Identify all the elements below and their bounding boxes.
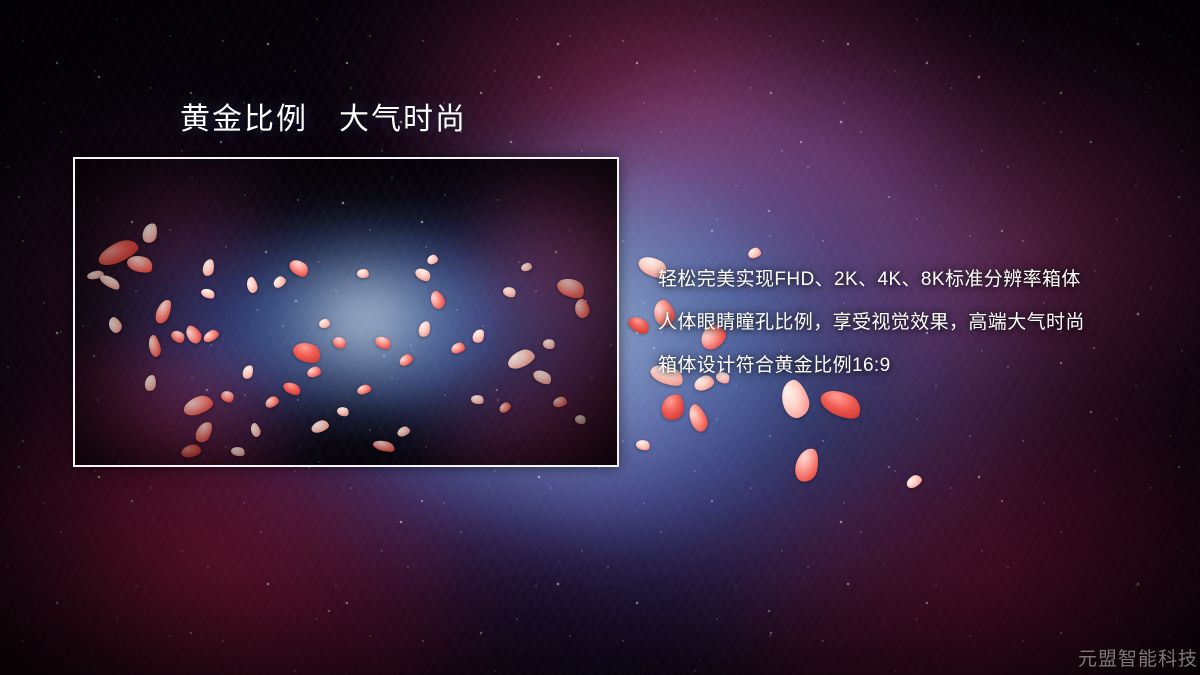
slide-canvas: 黄金比例 大气时尚 轻松完美实现FHD、2K、4K、8K标准分辨率箱体 人体眼睛… bbox=[0, 0, 1200, 675]
feature-description: 轻松完美实现FHD、2K、4K、8K标准分辨率箱体 人体眼睛瞳孔比例，享受视觉效… bbox=[658, 258, 1158, 387]
nebula-image-panel bbox=[73, 157, 619, 467]
company-watermark: 元盟智能科技 bbox=[1078, 644, 1198, 671]
description-line-2: 人体眼睛瞳孔比例，享受视觉效果，高端大气时尚 bbox=[658, 301, 1158, 344]
panel-vignette bbox=[75, 159, 617, 465]
description-line-1: 轻松完美实现FHD、2K、4K、8K标准分辨率箱体 bbox=[658, 258, 1158, 301]
panel-image-content bbox=[75, 159, 617, 465]
description-line-3: 箱体设计符合黄金比例16:9 bbox=[658, 344, 1158, 387]
page-title: 黄金比例 大气时尚 bbox=[180, 100, 467, 139]
